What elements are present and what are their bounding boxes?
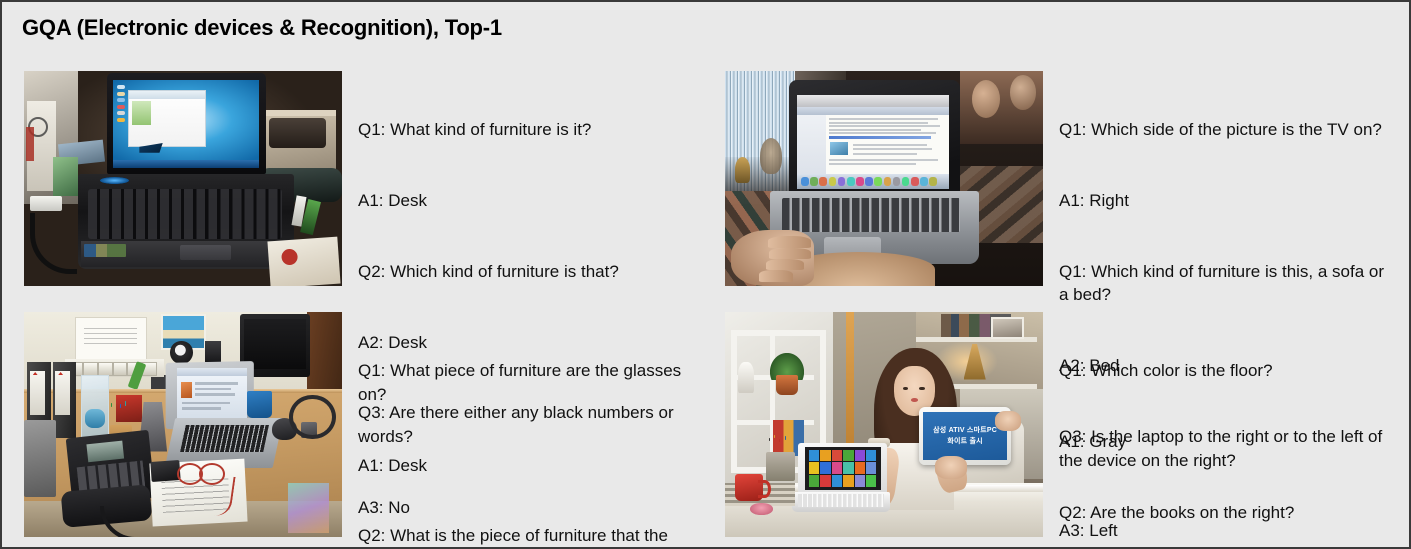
- white-device: [30, 196, 62, 211]
- hand: [731, 230, 814, 286]
- headphones: [289, 395, 335, 439]
- box-contents: [269, 118, 326, 148]
- qa-line: Q2: Which kind of furniture is that?: [358, 260, 696, 284]
- qa-text-bottom-right: Q1: Which color is the floor? A1: Gray Q…: [1059, 312, 1395, 549]
- tablet-text-line-2: 화이트 출시: [947, 436, 982, 447]
- webcam: [170, 341, 192, 364]
- qa-line: Q2: Are the books on the right?: [1059, 501, 1395, 525]
- plant-pot: [776, 375, 798, 395]
- wallet: [151, 460, 181, 482]
- laptop-screen: [797, 95, 950, 190]
- binder-label: [30, 371, 45, 415]
- flyer: [267, 236, 340, 286]
- example-bottom-right: 삼성 ATIV 스마트PC 화이트 출시: [725, 312, 1395, 537]
- person-on-screen: [1010, 75, 1036, 110]
- eye: [919, 387, 924, 390]
- laptop-screen: [805, 447, 881, 490]
- monitor-screen: [244, 319, 306, 369]
- figure-panel: GQA (Electronic devices & Recognition), …: [0, 0, 1411, 549]
- example-bottom-left: Q1: What piece of furniture are the glas…: [24, 312, 714, 537]
- qa-line: Q1: What piece of furniture are the glas…: [358, 359, 706, 406]
- phone-screen: [86, 440, 124, 461]
- browser-toolbar: [177, 368, 247, 376]
- qa-text-bottom-left: Q1: What piece of furniture are the glas…: [358, 312, 706, 549]
- bag: [288, 483, 329, 533]
- qa-line: A1: Desk: [358, 454, 706, 478]
- laptop-stickers: [84, 244, 125, 257]
- image-thumbnail: [830, 142, 847, 155]
- window-panel: [132, 101, 152, 125]
- person-on-screen: [972, 80, 1000, 118]
- paper-text-lines: [84, 327, 137, 344]
- example-photo-samsung-ativ-promo: 삼성 ATIV 스마트PC 화이트 출시: [725, 312, 1043, 537]
- red-object: [26, 127, 34, 161]
- laptop-keyboard: [798, 494, 884, 506]
- desktop-window: [128, 90, 206, 147]
- mail-sidebar: [797, 115, 826, 175]
- pen-holder: [766, 452, 795, 481]
- example-top-left: Q1: What kind of furniture is it? A1: De…: [24, 71, 714, 286]
- cat: [760, 138, 782, 175]
- laptop-keyboard: [180, 425, 268, 452]
- laptop-keyboard: [88, 189, 282, 238]
- qa-line: A1: Right: [1059, 189, 1395, 213]
- profile-thumbnail: [181, 382, 192, 398]
- lips: [911, 398, 918, 402]
- binder-logo: [58, 372, 63, 375]
- qa-line: Q1: Which kind of furniture is this, a s…: [1059, 260, 1395, 307]
- macos-dock: [797, 174, 950, 189]
- qa-line: A1: Gray: [1059, 430, 1395, 454]
- speaker: [205, 341, 221, 361]
- example-photo-laptop-windows-desktop: [24, 71, 342, 286]
- small-round-object: [750, 503, 772, 514]
- binder-label: [55, 371, 70, 415]
- window-titlebar: [129, 91, 205, 99]
- qa-line: A1: Desk: [358, 189, 696, 213]
- qa-line: Q2: What is the piece of furniture that …: [358, 524, 706, 549]
- browser-toolbar: [797, 95, 950, 107]
- page-title: GQA (Electronic devices & Recognition), …: [22, 15, 502, 41]
- highlighted-row: [829, 136, 930, 139]
- laptop-keyboard: [782, 198, 960, 232]
- blue-mug: [247, 391, 272, 418]
- television-screen: [960, 71, 1043, 144]
- browser-tabbar: [797, 107, 950, 115]
- qa-line: Q1: What kind of furniture is it?: [358, 118, 696, 142]
- container-contents: [85, 409, 105, 428]
- hand-top: [995, 411, 1020, 431]
- eye: [903, 387, 908, 390]
- flyer-logo: [280, 248, 297, 265]
- laptop-trackpad: [180, 245, 231, 260]
- picture-frame: [991, 317, 1024, 339]
- laptop-screen: [113, 80, 259, 168]
- red-mug: [735, 474, 764, 501]
- printer: [24, 420, 56, 497]
- example-photo-macbook-on-bed: [725, 71, 1043, 286]
- red-box: [116, 395, 141, 422]
- example-top-right: Q1: Which side of the picture is the TV …: [725, 71, 1395, 286]
- lamp: [735, 157, 751, 183]
- windows-start-tiles: [809, 450, 876, 488]
- example-photo-office-desk: [24, 312, 342, 537]
- laptop-screen: [177, 368, 247, 422]
- binder: [53, 362, 77, 439]
- qa-line: Q1: Which color is the floor?: [1059, 359, 1395, 383]
- taskbar: [113, 160, 259, 168]
- desktop-icons: [115, 84, 128, 139]
- tablet-text-line-1: 삼성 ATIV 스마트PC: [933, 425, 997, 436]
- qa-line: Q1: Which side of the picture is the TV …: [1059, 118, 1395, 142]
- binder-logo: [33, 372, 38, 375]
- wall-sockets: [65, 359, 164, 377]
- clear-container: [81, 375, 108, 440]
- figurine: [738, 362, 754, 394]
- hand-bottom: [935, 456, 967, 479]
- mail-content: [826, 115, 950, 175]
- green-box: [53, 157, 78, 196]
- mug-handle: [758, 480, 771, 498]
